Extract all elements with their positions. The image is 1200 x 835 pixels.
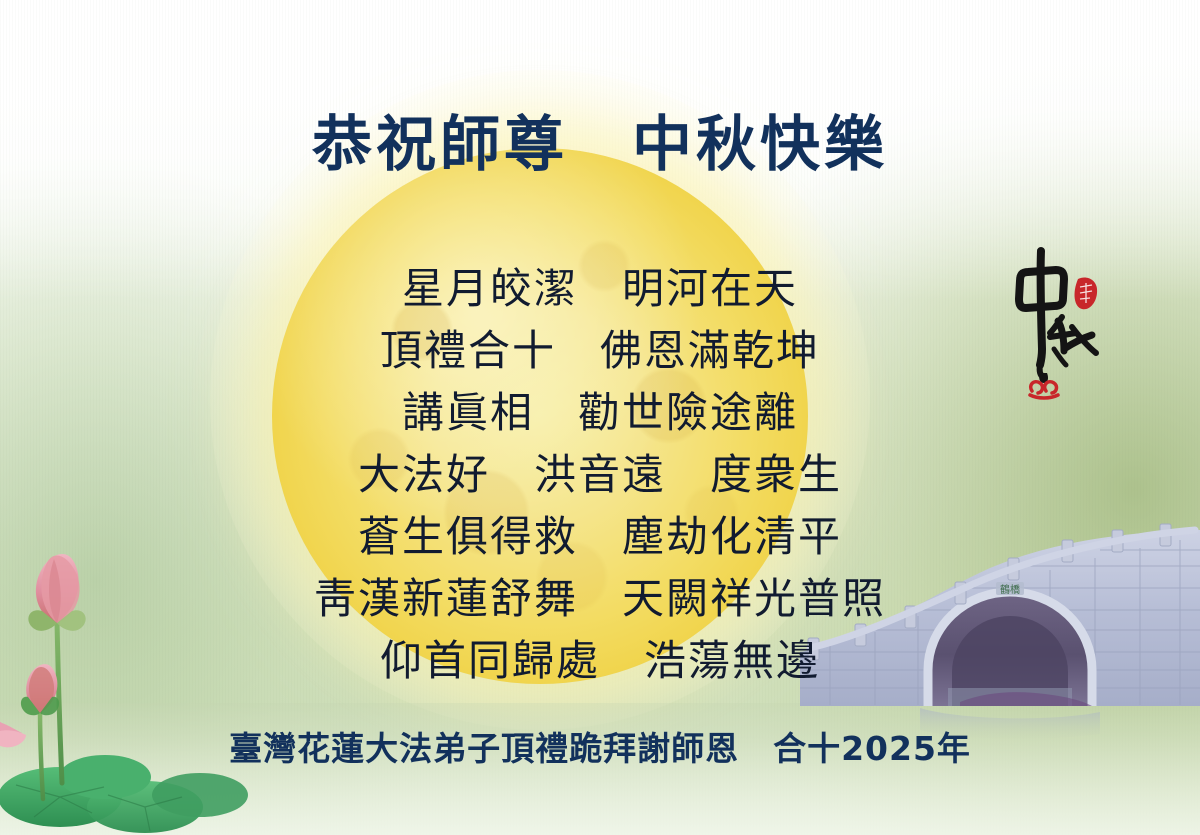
poem-line: 星月皎潔 明河在天	[0, 258, 1200, 320]
poem-line: 蒼生俱得救 塵劫化清平	[0, 506, 1200, 568]
signature-line: 臺灣花蓮大法弟子頂禮跪拜謝師恩 合十2025年	[0, 722, 1200, 770]
mid-autumn-greeting-card: 鶴橋	[0, 0, 1200, 835]
poem-block: 星月皎潔 明河在天 頂禮合十 佛恩滿乾坤 講眞相 勸世險途離 大法好 洪音遠 度…	[0, 258, 1200, 692]
poem-line: 頂禮合十 佛恩滿乾坤	[0, 320, 1200, 382]
heading-right-text: 中秋快樂	[632, 110, 888, 180]
poem-line: 大法好 洪音遠 度衆生	[0, 444, 1200, 506]
poem-line: 靑漢新蓮舒舞 天闕祥光普照	[0, 568, 1200, 630]
poem-line: 講眞相 勸世險途離	[0, 382, 1200, 444]
poem-line: 仰首同歸處 浩蕩無邊	[0, 630, 1200, 692]
page-title: 恭祝師尊中秋快樂	[0, 96, 1200, 183]
heading-left-text: 恭祝師尊	[312, 110, 568, 180]
